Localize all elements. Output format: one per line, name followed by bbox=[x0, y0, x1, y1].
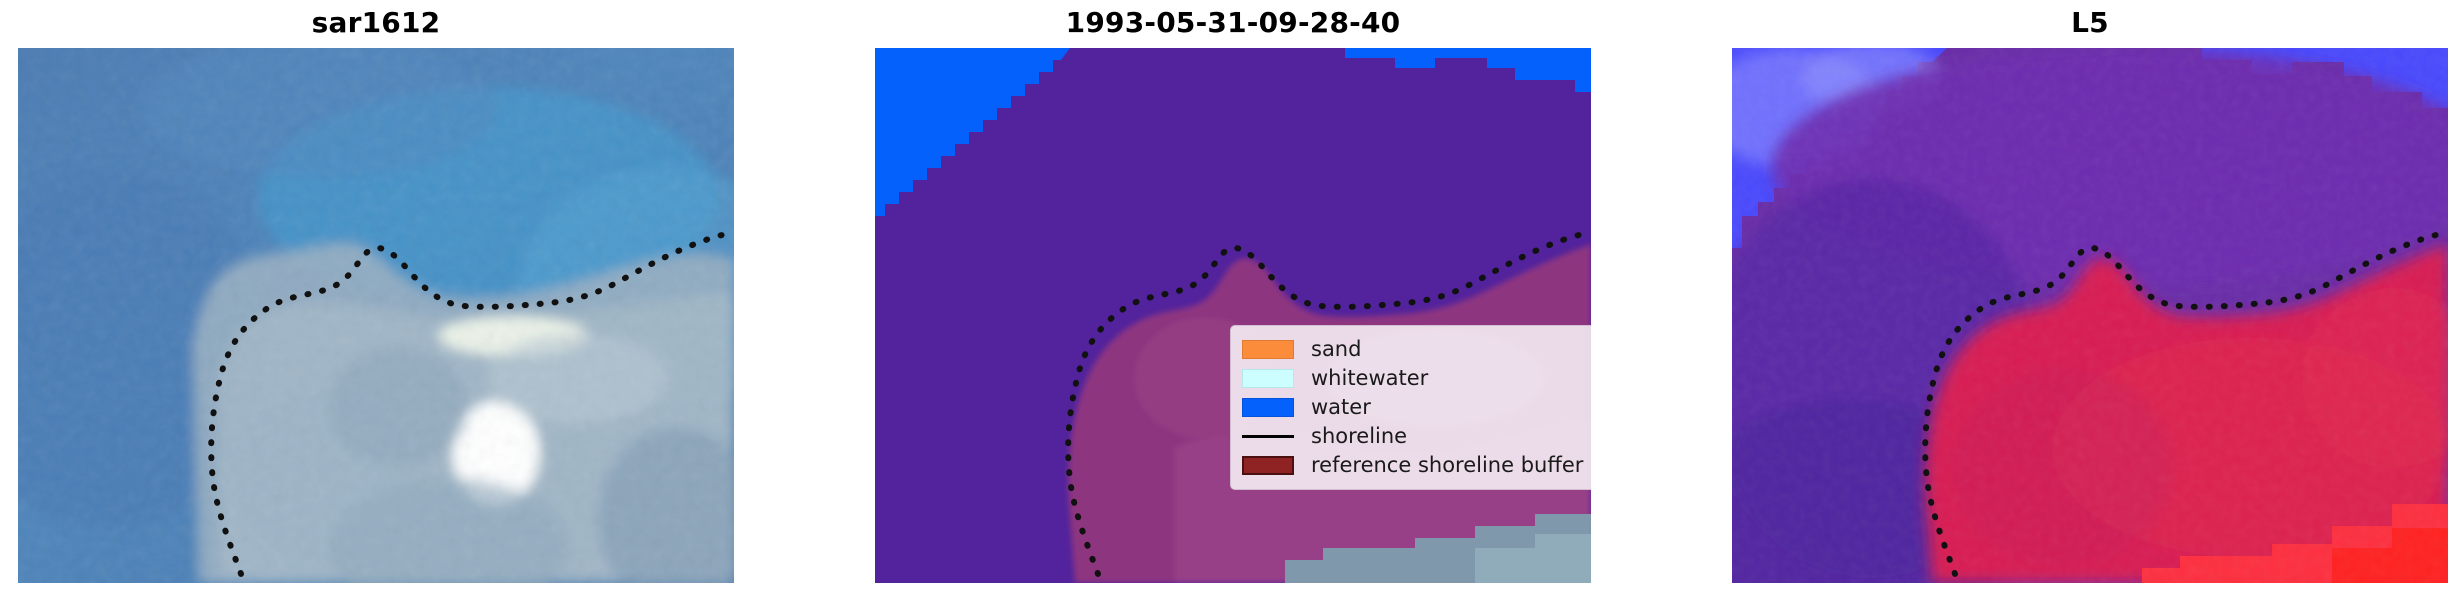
panel-l5: L5 bbox=[1732, 0, 2448, 598]
reference-buffer-swatch-icon bbox=[1242, 456, 1294, 475]
panel-title-classification: 1993-05-31-09-28-40 bbox=[875, 6, 1591, 39]
legend-item-shoreline: shoreline bbox=[1242, 422, 1583, 451]
legend-label-water: water bbox=[1311, 397, 1371, 418]
sar-image bbox=[18, 48, 734, 583]
legend-label-shoreline: shoreline bbox=[1311, 426, 1407, 447]
axes-l5[interactable] bbox=[1732, 48, 2448, 583]
panel-classification: 1993-05-31-09-28-40 bbox=[875, 0, 1591, 598]
legend-label-whitewater: whitewater bbox=[1311, 368, 1428, 389]
panel-title-sar: sar1612 bbox=[18, 6, 734, 39]
l5-image bbox=[1732, 48, 2448, 583]
axes-sar[interactable] bbox=[18, 48, 734, 583]
panel-sar: sar1612 bbox=[18, 0, 734, 598]
water-swatch-icon bbox=[1242, 398, 1294, 417]
shoreline-line-icon bbox=[1242, 427, 1294, 446]
panel-title-l5: L5 bbox=[1732, 6, 2448, 39]
whitewater-swatch-icon bbox=[1242, 369, 1294, 388]
legend-item-whitewater: whitewater bbox=[1242, 364, 1583, 393]
figure-canvas: sar1612 bbox=[0, 0, 2460, 598]
legend: sand whitewater water shoreline bbox=[1230, 325, 1591, 490]
legend-item-reference-shoreline-buffer: reference shoreline buffer bbox=[1242, 451, 1583, 480]
sand-swatch-icon bbox=[1242, 340, 1294, 359]
classification-image bbox=[875, 48, 1591, 583]
axes-classification[interactable]: sand whitewater water shoreline bbox=[875, 48, 1591, 583]
legend-item-water: water bbox=[1242, 393, 1583, 422]
legend-label-reference-shoreline-buffer: reference shoreline buffer bbox=[1311, 455, 1583, 476]
legend-item-sand: sand bbox=[1242, 335, 1583, 364]
legend-label-sand: sand bbox=[1311, 339, 1361, 360]
